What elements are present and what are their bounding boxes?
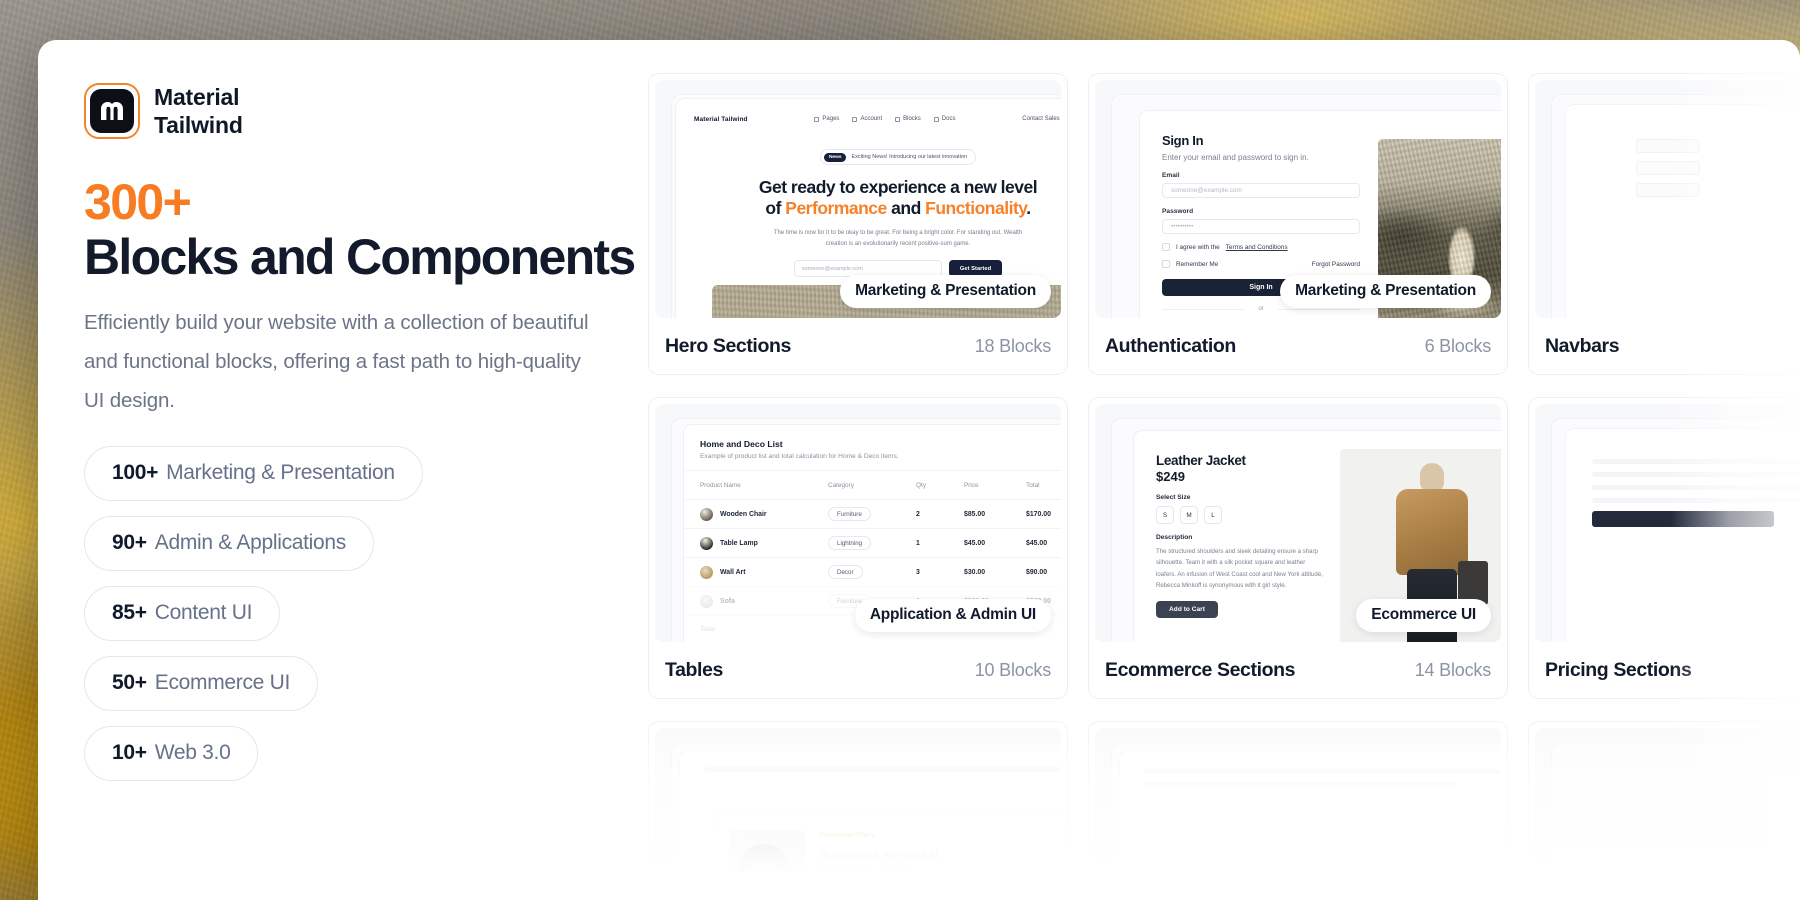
card-preview: Home and Deco List Example of product li… — [655, 404, 1061, 642]
total-label: Total: — [700, 626, 828, 633]
table-row: Table Lamp Lightning 1 $45.00 $45.00 — [684, 528, 1061, 557]
nav-link-docs: Docs — [942, 116, 956, 122]
product-thumb-icon — [700, 508, 713, 521]
pill-label: Marketing & Presentation — [166, 461, 395, 485]
preview-contact-sales: Contact Sales — [1022, 116, 1059, 122]
col-product-name: Product Name — [700, 482, 828, 489]
account-icon — [852, 117, 857, 122]
badge-chip: News — [824, 153, 847, 162]
card-preview: Customer Story Awesome services! Fast an… — [655, 728, 1061, 900]
block-card-tables[interactable]: Home and Deco List Example of product li… — [648, 397, 1068, 699]
card-preview: Leather Jacket $249 Select Size S M L De… — [1095, 404, 1501, 642]
pill-label: Web 3.0 — [155, 741, 231, 765]
card-block-count: 10 Blocks — [975, 660, 1051, 681]
card-preview: Sign In Enter your email and password to… — [1095, 80, 1501, 318]
testimonial-eyebrow: Customer Story — [819, 830, 939, 839]
block-card-pricing-sections[interactable]: Pricing Sections — [1528, 397, 1800, 699]
card-grid-column: Material Tailwind Pages Account Blocks D… — [638, 40, 1800, 900]
size-option-s: S — [1156, 506, 1174, 524]
card-tag-badge: Ecommerce UI — [1356, 599, 1491, 632]
pill-count: 85+ — [112, 601, 147, 625]
product-thumb-icon — [700, 595, 713, 608]
pill-label: Content UI — [155, 601, 252, 625]
category-pill-ecommerce[interactable]: 50+ Ecommerce UI — [84, 656, 318, 711]
card-preview — [1535, 80, 1800, 318]
pages-icon — [814, 117, 819, 122]
preview-headline-line1: Get ready to experience a new level — [676, 177, 1061, 198]
block-card-row3-b[interactable] — [1088, 721, 1508, 900]
category-pill-list: 100+ Marketing & Presentation 90+ Admin … — [84, 446, 638, 781]
terms-text: I agree with the — [1176, 244, 1220, 251]
card-preview — [1535, 728, 1800, 900]
card-title: Tables — [665, 659, 723, 682]
brand-mark-icon — [84, 83, 140, 139]
block-card-hero-sections[interactable]: Material Tailwind Pages Account Blocks D… — [648, 73, 1068, 375]
card-block-count: 18 Blocks — [975, 336, 1051, 357]
forgot-password-link: Forgot Password — [1312, 261, 1360, 268]
card-footer: Pricing Sections — [1529, 642, 1800, 698]
preview-product-price: $249 — [1156, 469, 1340, 484]
left-column: Material Tailwind 300+ Blocks and Compon… — [38, 40, 638, 900]
card-block-count: 14 Blocks — [1415, 660, 1491, 681]
preview-desc-label: Description — [1156, 534, 1340, 541]
card-title: Authentication — [1105, 335, 1236, 358]
block-card-row3-testimonials[interactable]: Customer Story Awesome services! Fast an… — [648, 721, 1068, 900]
pill-label: Ecommerce UI — [155, 671, 290, 695]
remember-checkbox-icon — [1162, 260, 1170, 268]
block-card-ecommerce-sections[interactable]: Leather Jacket $249 Select Size S M L De… — [1088, 397, 1508, 699]
testimonial-avatar — [729, 830, 805, 900]
preview-email-field: someone@example.com — [1162, 183, 1360, 198]
card-footer: Hero Sections 18 Blocks — [649, 318, 1067, 374]
card-title: Pricing Sections — [1545, 659, 1691, 682]
testimonial-quote: Awesome services! Fast and secure. — [819, 846, 939, 882]
hero-subtext: Efficiently build your website with a co… — [84, 303, 606, 421]
card-preview — [1535, 404, 1800, 642]
card-title: Ecommerce Sections — [1105, 659, 1295, 682]
preview-brand: Material Tailwind — [694, 116, 748, 123]
preview-size-label: Select Size — [1156, 494, 1340, 501]
preview-size-options: S M L — [1156, 506, 1340, 524]
card-title: Hero Sections — [665, 335, 791, 358]
pill-count: 90+ — [112, 531, 147, 555]
card-footer: Tables 10 Blocks — [649, 642, 1067, 698]
block-card-navbars[interactable]: Navbars — [1528, 73, 1800, 375]
preview-table-subtitle: Example of product list and total calcul… — [684, 453, 1061, 460]
card-preview: Material Tailwind Pages Account Blocks D… — [655, 80, 1061, 318]
block-card-authentication[interactable]: Sign In Enter your email and password to… — [1088, 73, 1508, 375]
card-block-count: 6 Blocks — [1425, 336, 1491, 357]
preview-table-title: Home and Deco List — [684, 439, 1061, 449]
table-row: Wall Art Decor 3 $30.00 $90.00 — [684, 557, 1061, 586]
preview-signin-subheading: Enter your email and password to sign in… — [1162, 153, 1360, 162]
preview-email-label: Email — [1162, 172, 1360, 179]
card-title: Navbars — [1545, 335, 1619, 358]
preview-remember-row: Remember Me Forgot Password — [1162, 260, 1360, 268]
col-price: Price — [964, 482, 1026, 489]
card-footer: Navbars — [1529, 318, 1800, 374]
category-pill-admin[interactable]: 90+ Admin & Applications — [84, 516, 374, 571]
table-row: Wooden Chair Furniture 2 $85.00 $170.00 — [684, 499, 1061, 528]
card-footer: Ecommerce Sections 14 Blocks — [1089, 642, 1507, 698]
card-tag-badge: Marketing & Presentation — [840, 275, 1051, 308]
nav-link-account: Account — [860, 116, 882, 122]
page-title: Blocks and Components — [84, 231, 638, 284]
preview-nav-links: Pages Account Blocks Docs — [814, 116, 955, 122]
size-option-m: M — [1180, 506, 1198, 524]
category-pill-marketing[interactable]: 100+ Marketing & Presentation — [84, 446, 423, 501]
preview-password-label: Password — [1162, 208, 1360, 215]
size-option-l: L — [1204, 506, 1222, 524]
main-panel: Material Tailwind 300+ Blocks and Compon… — [38, 40, 1800, 900]
remember-label: Remember Me — [1176, 261, 1218, 268]
product-thumb-icon — [700, 537, 713, 550]
preview-product-title: Leather Jacket — [1156, 453, 1340, 468]
category-pill-web3[interactable]: 10+ Web 3.0 — [84, 726, 258, 781]
preview-password-field: •••••••••• — [1162, 219, 1360, 234]
preview-table-header: Product Name Category Qty Price Total — [684, 470, 1061, 499]
card-tag-badge: Marketing & Presentation — [1280, 275, 1491, 308]
docs-icon — [934, 117, 939, 122]
col-total: Total — [1026, 482, 1061, 489]
preview-paragraph: The time is now for it to be okay to be … — [767, 228, 1029, 249]
pill-count: 50+ — [112, 671, 147, 695]
preview-headline: Get ready to experience a new level of P… — [676, 177, 1061, 219]
block-card-row3-c[interactable] — [1528, 721, 1800, 900]
preview-description: The structured shoulders and sleek detai… — [1156, 546, 1324, 591]
material-tailwind-m-icon — [99, 101, 125, 121]
terms-link: Terms and Conditions — [1226, 244, 1288, 251]
pill-label: Admin & Applications — [155, 531, 346, 555]
col-qty: Qty — [916, 482, 964, 489]
card-tag-badge: Application & Admin UI — [855, 599, 1051, 632]
terms-checkbox-icon — [1162, 243, 1170, 251]
badge-text: Exciting News! Introducing our latest in… — [851, 154, 967, 160]
category-pill-content[interactable]: 85+ Content UI — [84, 586, 280, 641]
pill-count: 100+ — [112, 461, 158, 485]
brand-name: Material Tailwind — [154, 83, 243, 139]
block-card-grid: Material Tailwind Pages Account Blocks D… — [648, 73, 1800, 900]
nav-link-pages: Pages — [822, 116, 839, 122]
nav-link-blocks: Blocks — [903, 116, 921, 122]
product-thumb-icon — [700, 566, 713, 579]
hero-eyebrow: 300+ — [84, 177, 638, 229]
preview-headline-line2: of Performance and Functionality. — [676, 198, 1061, 219]
pill-count: 10+ — [112, 741, 147, 765]
card-preview — [1095, 728, 1501, 900]
card-footer: Authentication 6 Blocks — [1089, 318, 1507, 374]
preview-signin-heading: Sign In — [1162, 133, 1360, 148]
preview-add-to-cart-button: Add to Cart — [1156, 601, 1218, 618]
brand-name-line1: Material — [154, 83, 243, 111]
brand-name-line2: Tailwind — [154, 111, 243, 139]
col-category: Category — [828, 482, 916, 489]
preview-terms-row: I agree with the Terms and Conditions — [1162, 243, 1360, 251]
blocks-icon — [895, 117, 900, 122]
brand-logo[interactable]: Material Tailwind — [84, 83, 638, 139]
preview-news-badge: News Exciting News! Introducing our late… — [820, 149, 976, 165]
